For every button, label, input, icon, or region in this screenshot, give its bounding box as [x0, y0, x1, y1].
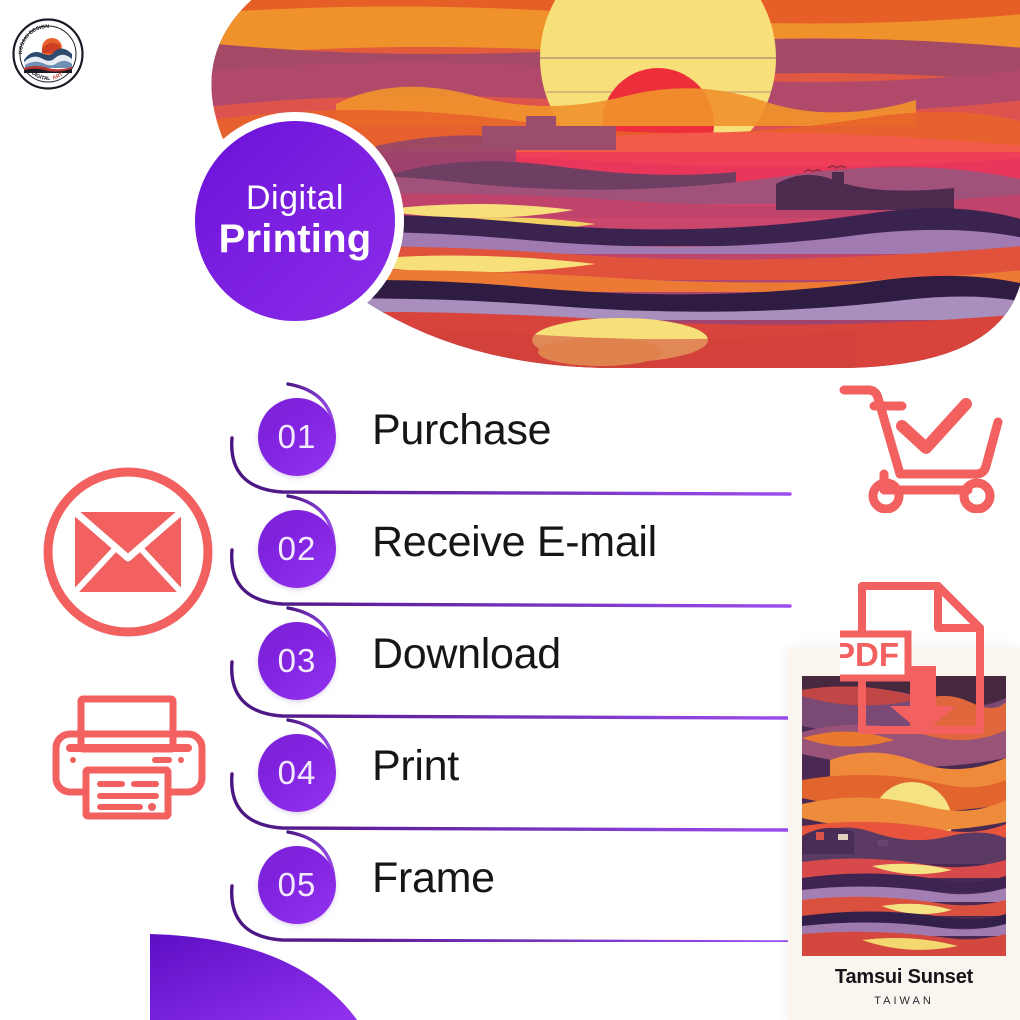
digital-printing-badge[interactable]: Digital Printing	[186, 112, 404, 330]
step-item-5[interactable]: 05 Frame	[222, 830, 792, 942]
step-item-2[interactable]: 02 Receive E-mail	[222, 494, 792, 606]
pdf-download-icon: PDF	[840, 578, 1012, 738]
badge-line-1: Digital	[246, 181, 344, 217]
envelope-in-circle-icon	[38, 462, 218, 642]
printer-icon	[48, 692, 210, 822]
pdf-label: PDF	[840, 636, 899, 673]
step-label: Receive E-mail	[372, 518, 657, 567]
brand-logo[interactable]: KOSAKI DESIGN DIGITAL ART	[12, 18, 84, 90]
step-number-badge: 01	[258, 398, 336, 476]
step-label: Download	[372, 630, 561, 679]
step-number-badge: 04	[258, 734, 336, 812]
badge-inner: Digital Printing	[195, 121, 395, 321]
purple-corner-decoration	[150, 934, 360, 1020]
step-item-3[interactable]: 03 Download	[222, 606, 792, 718]
poster-canvas: KOSAKI DESIGN DIGITAL ART	[0, 0, 1020, 1020]
step-number-badge: 05	[258, 846, 336, 924]
step-label: Print	[372, 742, 459, 791]
step-item-1[interactable]: 01 Purchase	[222, 382, 792, 494]
step-label: Purchase	[372, 406, 551, 455]
shopping-cart-check-icon	[838, 378, 1010, 513]
step-number-badge: 03	[258, 622, 336, 700]
step-number-badge: 02	[258, 510, 336, 588]
poster-subtitle: TAIWAN	[788, 995, 1020, 1007]
step-label: Frame	[372, 854, 495, 903]
poster-title: Tamsui Sunset	[788, 966, 1020, 989]
step-item-4[interactable]: 04 Print	[222, 718, 792, 830]
steps-list: 01 Purchase 02 Receive E-mail 03 Downloa…	[222, 382, 792, 942]
badge-line-2: Printing	[219, 218, 372, 261]
